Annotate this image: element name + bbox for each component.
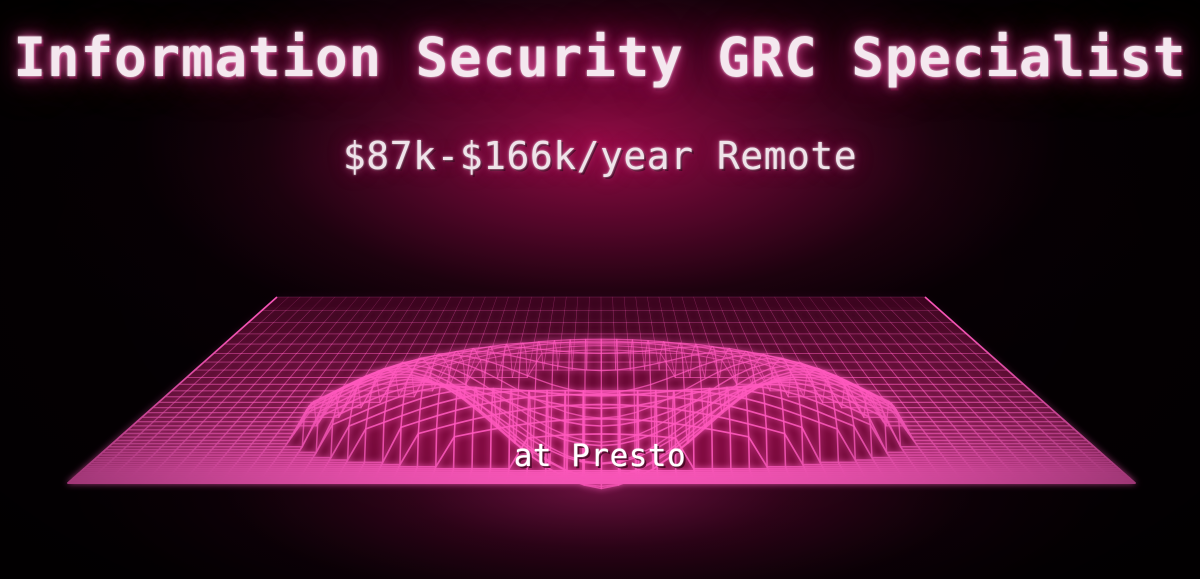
- wireframe-mesh-svg: [0, 0, 1200, 579]
- job-posting-card: Information Security GRC Specialist $87k…: [0, 0, 1200, 579]
- wireframe-surface-visualization: [0, 0, 1200, 579]
